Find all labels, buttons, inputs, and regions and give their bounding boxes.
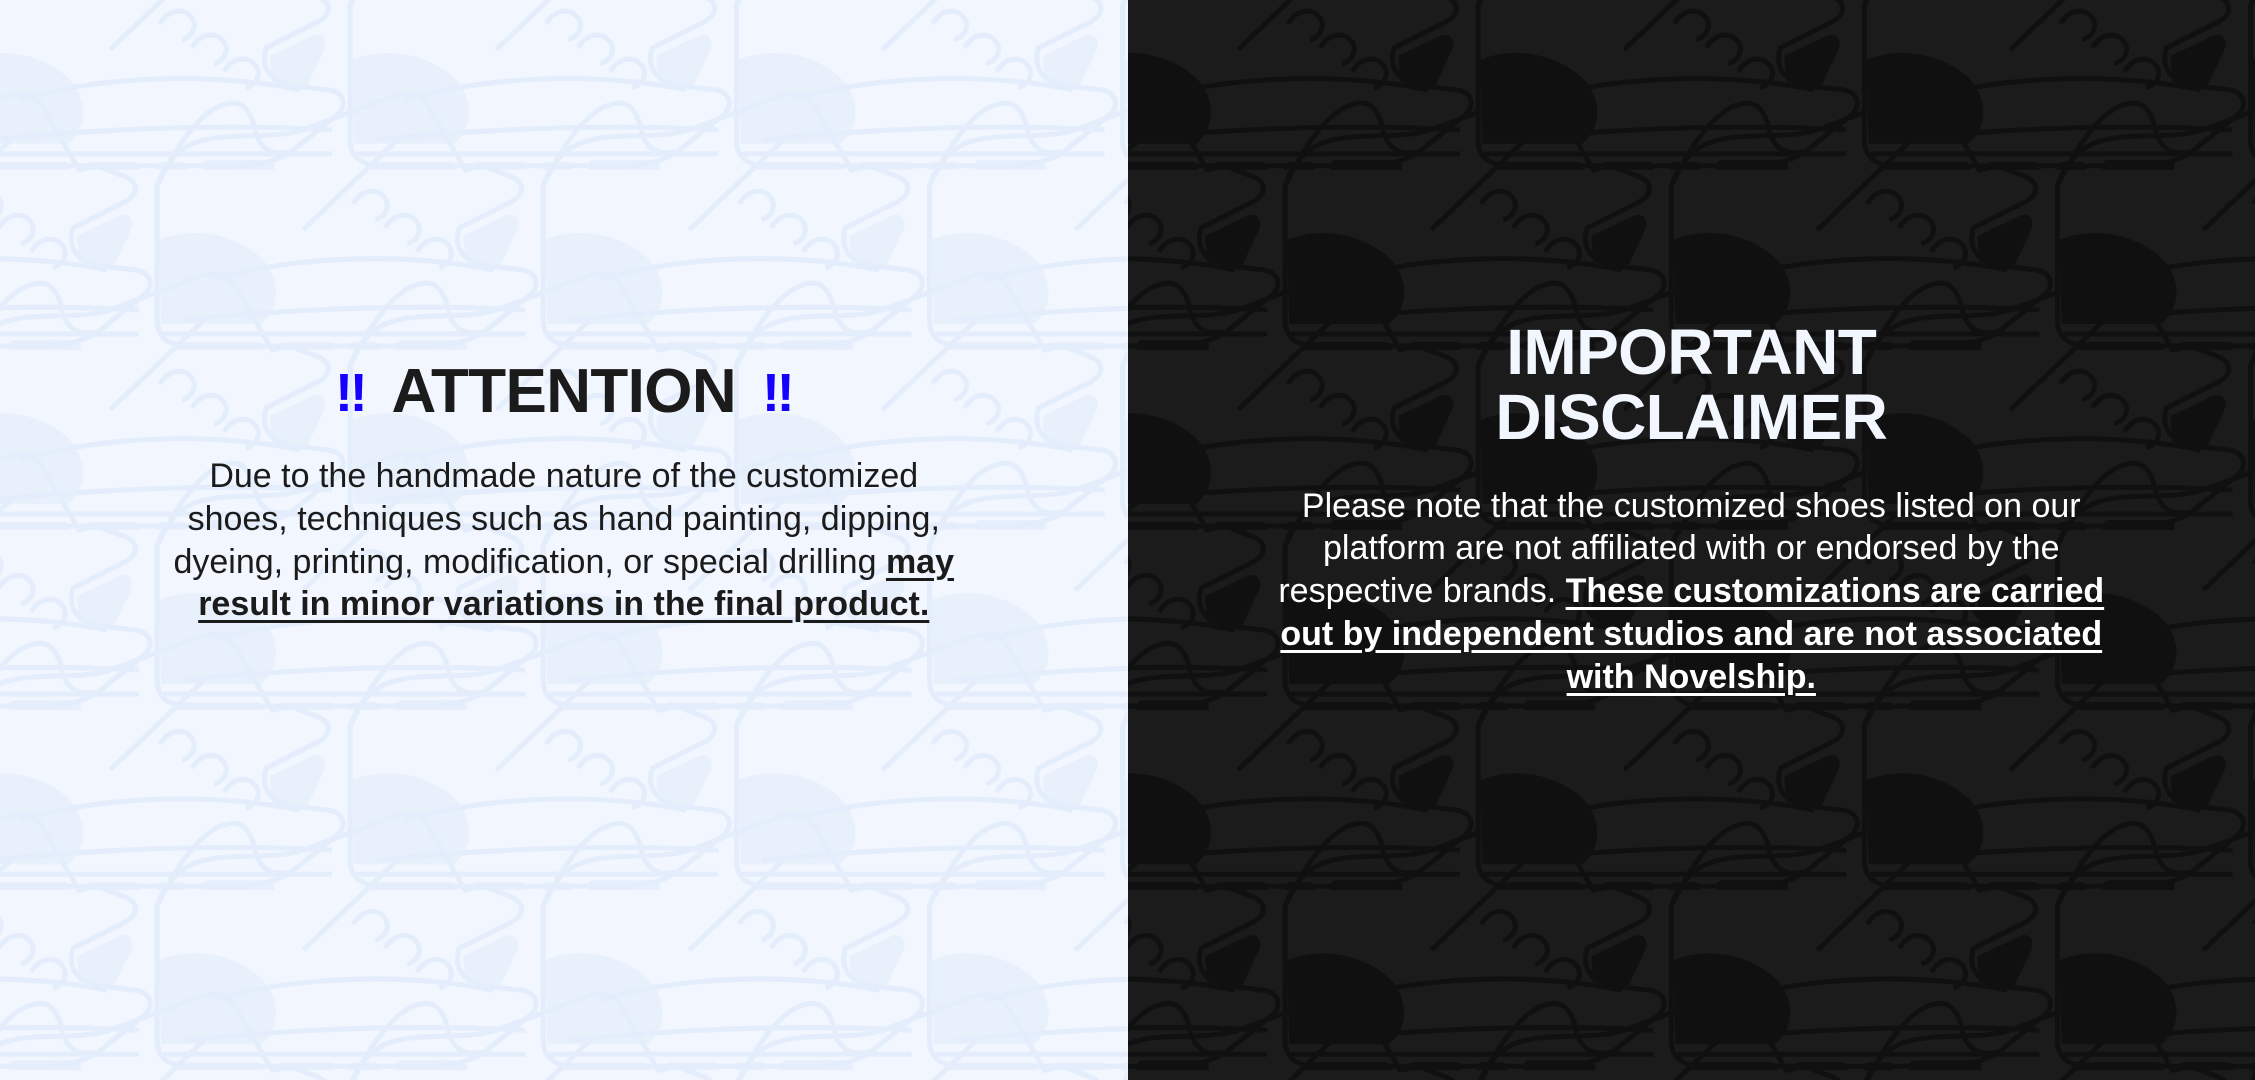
double-exclamation-right-icon: ‼ (762, 366, 792, 420)
disclaimer-body: Please note that the customized shoes li… (1276, 485, 2106, 699)
attention-heading: ‼ ATTENTION ‼ (335, 361, 793, 423)
customization-notice-banner: ‼ ATTENTION ‼ Due to the handmade nature… (0, 0, 2255, 1080)
disclaimer-heading: IMPORTANT DISCLAIMER (1495, 320, 1887, 451)
disclaimer-heading-line1: IMPORTANT (1506, 316, 1876, 388)
attention-body-normal: Due to the handmade nature of the custom… (173, 457, 939, 581)
attention-content: ‼ ATTENTION ‼ Due to the handmade nature… (0, 0, 1128, 626)
double-exclamation-left-icon: ‼ (335, 366, 365, 420)
attention-heading-text: ATTENTION (391, 361, 736, 423)
disclaimer-content: IMPORTANT DISCLAIMER Please note that th… (1128, 0, 2255, 699)
attention-body: Due to the handmade nature of the custom… (164, 455, 964, 626)
disclaimer-heading-line2: DISCLAIMER (1495, 381, 1887, 453)
disclaimer-panel: IMPORTANT DISCLAIMER Please note that th… (1128, 0, 2255, 1080)
attention-panel: ‼ ATTENTION ‼ Due to the handmade nature… (0, 0, 1128, 1080)
